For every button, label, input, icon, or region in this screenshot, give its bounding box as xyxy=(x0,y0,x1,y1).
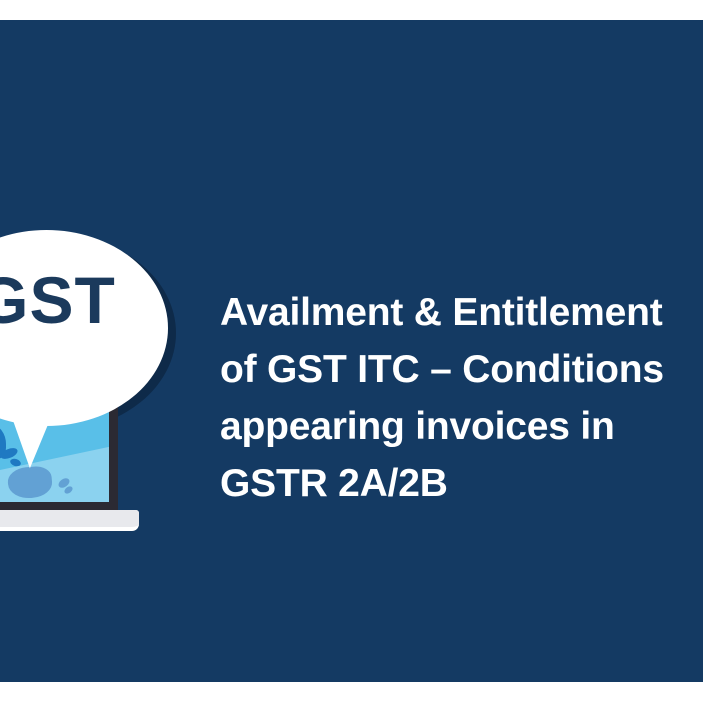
page-title: Availment & Entitlement of GST ITC – Con… xyxy=(220,284,703,512)
speech-bubble-label: GST xyxy=(0,267,168,333)
brand-logo[interactable]: N ® DIA xyxy=(0,50,52,130)
top-white-strip xyxy=(0,0,703,20)
navy-background-band: N ® DIA xyxy=(0,20,703,682)
headline-line-2: of GST ITC – Conditions xyxy=(220,341,703,398)
headline-line-4: GSTR 2A/2B xyxy=(220,455,703,512)
headline-line-1: Availment & Entitlement xyxy=(220,284,703,341)
gst-illustration: GST xyxy=(0,225,205,535)
bottom-white-strip xyxy=(0,682,703,703)
laptop-base xyxy=(0,510,139,531)
gst-banner: N ® DIA xyxy=(0,0,703,703)
headline-line-3: appearing invoices in xyxy=(220,398,703,455)
